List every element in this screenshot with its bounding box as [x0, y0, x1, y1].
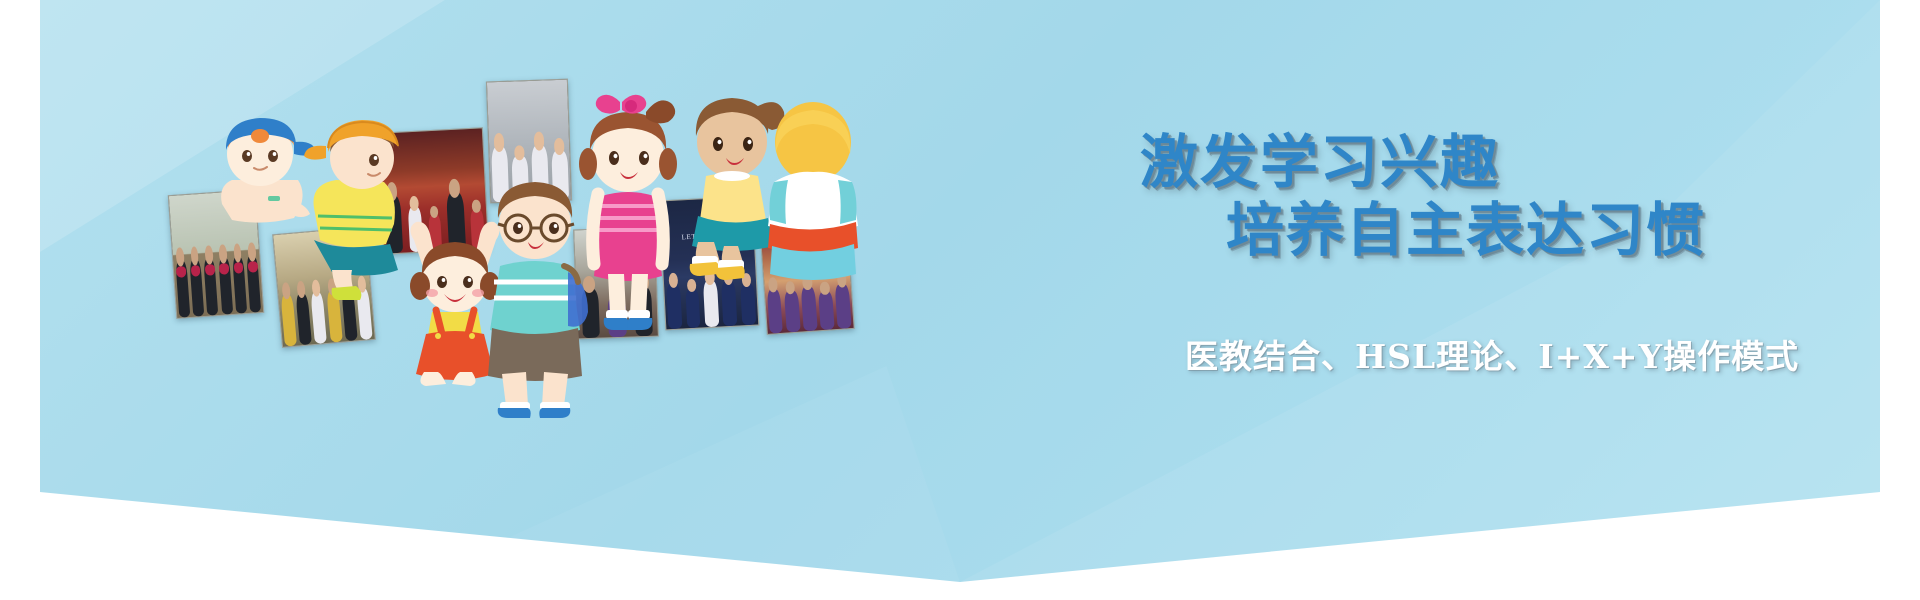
headline-block: 激发学习兴趣 培养自主表达习惯 — [1130, 128, 1750, 265]
tagline: 医教结合、HSL理论、I+X+Y操作模式 — [1185, 330, 1799, 378]
photo-subject — [204, 259, 219, 315]
photo-subject — [766, 289, 783, 334]
photo-subject — [818, 291, 834, 330]
photo-subject — [835, 284, 852, 329]
photo-subject — [801, 286, 818, 331]
headline-line-2: 培养自主表达习惯 — [1130, 196, 1750, 264]
photo-illustration-collage: LET'S MARCH — [150, 60, 910, 440]
photo-subject — [721, 281, 737, 326]
photo-subjects — [172, 239, 263, 318]
photo-subject — [218, 258, 233, 314]
photo-subject — [703, 281, 719, 328]
photo-subject — [247, 256, 262, 312]
photo-subject — [280, 295, 296, 347]
photo-subject — [740, 283, 756, 325]
headline-line-1: 激发学习兴趣 — [1130, 128, 1750, 196]
girl-blonde-braid-character — [758, 96, 868, 286]
photo-subject — [175, 261, 190, 317]
photo-subject — [189, 260, 204, 316]
hero-banner: LET'S MARCH — [0, 0, 1920, 600]
photo-subject — [232, 257, 247, 313]
photo-subject — [784, 291, 801, 333]
